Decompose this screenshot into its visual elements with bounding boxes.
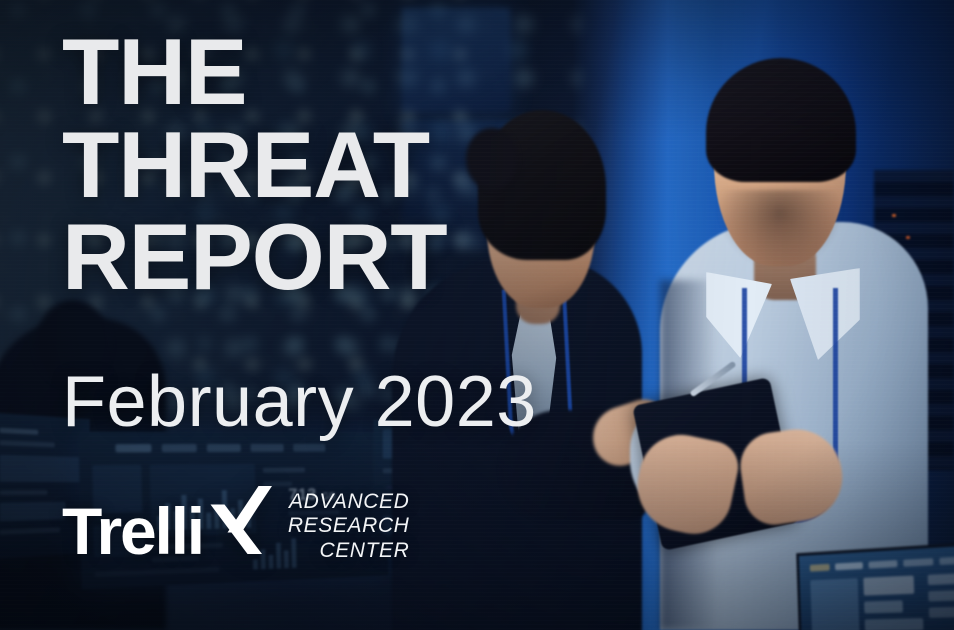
tagline-line-3: CENTER [288, 539, 410, 563]
threat-report-cover: 713 GB [0, 0, 954, 630]
trellix-tagline: ADVANCED RESEARCH CENTER [288, 490, 410, 563]
tagline-line-2: RESEARCH [288, 514, 410, 538]
trellix-wordmark: Trelli [62, 486, 272, 564]
trellix-logo-lockup: Trelli ADVANCED RESEARCH CENTER [62, 486, 409, 564]
trellix-wordmark-text: Trelli [62, 498, 203, 564]
tagline-line-1: ADVANCED [288, 490, 410, 514]
title-line-2: THREAT [62, 119, 447, 212]
trellix-x-logo [200, 486, 272, 554]
report-date-subtitle: February 2023 [62, 366, 537, 438]
title-line-1: THE [62, 26, 447, 119]
cover-content: THE THREAT REPORT February 2023 Trelli A… [0, 0, 954, 630]
title-line-3: REPORT [62, 211, 447, 304]
page-title: THE THREAT REPORT [62, 26, 447, 304]
